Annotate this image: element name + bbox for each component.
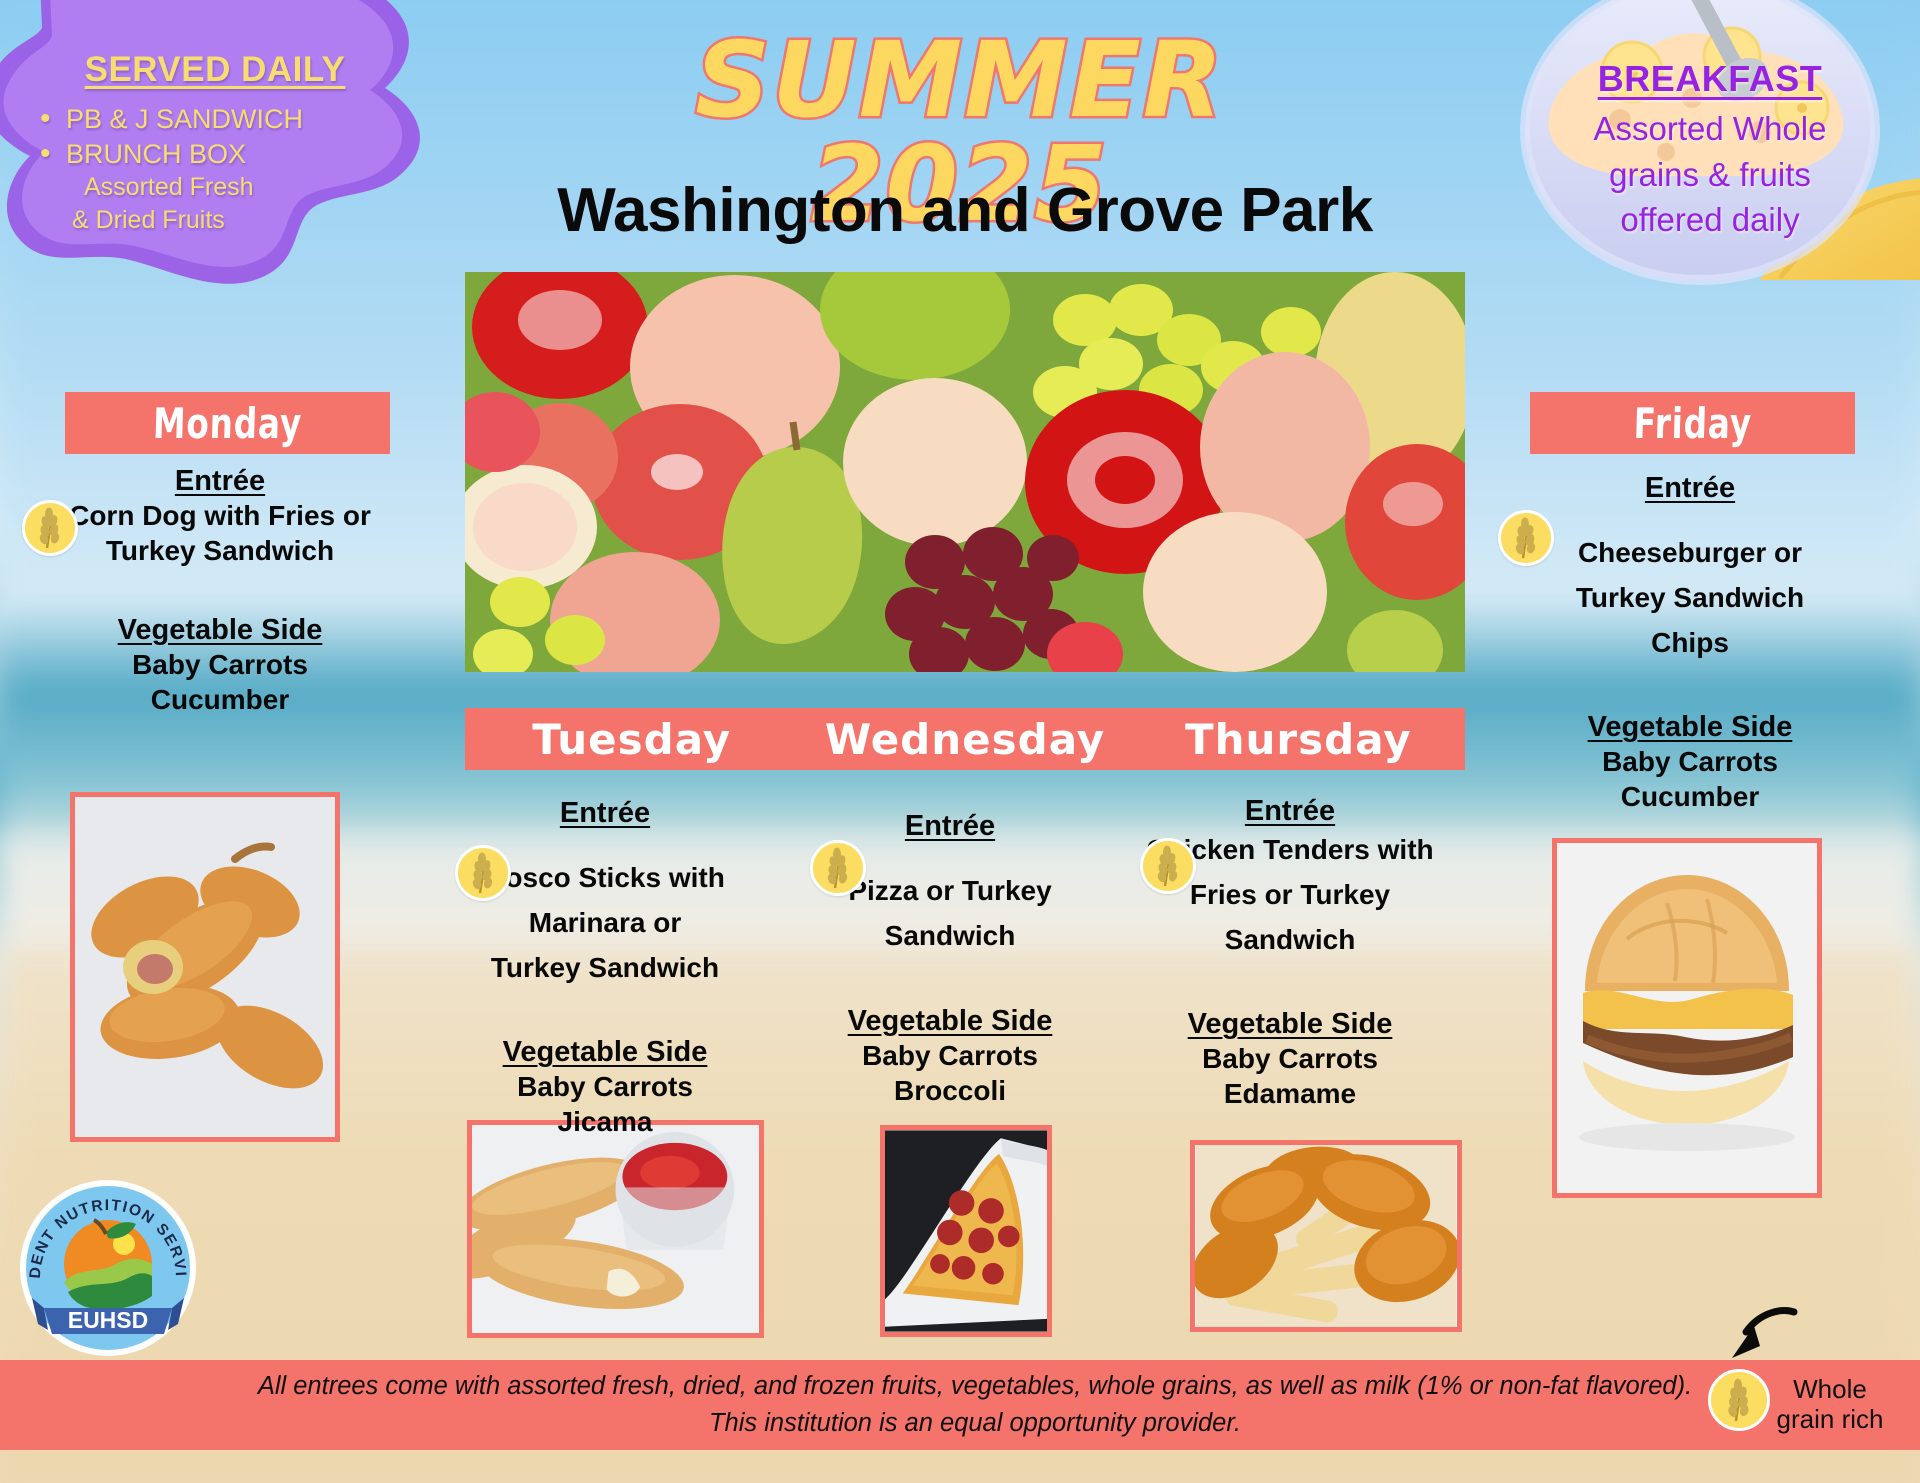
- served-daily-list: PB & J SANDWICH BRUNCH BOX: [30, 102, 400, 171]
- served-daily-sub-2: & Dried Fruits: [30, 204, 400, 237]
- day-label-friday: Friday: [1633, 399, 1753, 448]
- photo-chicken-tenders: [1190, 1140, 1462, 1332]
- day-label-monday: Monday: [152, 399, 302, 448]
- curved-arrow-icon: [1720, 1306, 1800, 1368]
- whole-grain-rich-label: Whole grain rich: [1775, 1374, 1885, 1435]
- whole-grain-rich-icon: [1708, 1369, 1770, 1431]
- side-line: Baby Carrots: [1140, 1041, 1440, 1076]
- fruit-assortment-photo: [465, 272, 1465, 672]
- side-line: Jicama: [455, 1104, 755, 1139]
- day-label-thursday: Thursday: [1185, 715, 1412, 764]
- menu-column-tuesday: Entrée Bosco Sticks with Marinara or Tur…: [455, 797, 755, 1139]
- entree-line: Sandwich: [820, 914, 1080, 959]
- list-item: PB & J SANDWICH: [30, 102, 400, 137]
- side-line: Cucumber: [1500, 779, 1880, 814]
- vegetable-side-label: Vegetable Side: [455, 1036, 755, 1069]
- entree-label: Entrée: [40, 465, 400, 498]
- day-banner-monday: Monday: [65, 392, 390, 454]
- vegetable-side-label: Vegetable Side: [1140, 1008, 1440, 1041]
- served-daily-block: SERVED DAILY PB & J SANDWICH BRUNCH BOX …: [30, 50, 400, 236]
- entree-label: Entrée: [820, 810, 1080, 843]
- day-label-wednesday: Wednesday: [825, 715, 1105, 764]
- menu-column-thursday: Entrée Chicken Tenders with Fries or Tur…: [1140, 795, 1440, 1111]
- whole-grain-line-1: Whole: [1775, 1374, 1885, 1405]
- breakfast-line-2: grains & fruits: [1520, 152, 1900, 198]
- breakfast-title: BREAKFAST: [1520, 58, 1900, 100]
- entree-line: Marinara or: [455, 901, 755, 946]
- vegetable-side-label: Vegetable Side: [1500, 711, 1880, 744]
- entree-label: Entrée: [1500, 472, 1880, 505]
- side-line: Broccoli: [820, 1073, 1080, 1108]
- entree-label: Entrée: [455, 797, 755, 830]
- logo-ribbon-text: EUHSD: [68, 1307, 149, 1333]
- photo-bosco-sticks: [467, 1120, 764, 1338]
- list-item: BRUNCH BOX: [30, 137, 400, 172]
- day-banner-midweek: Tuesday Wednesday Thursday: [465, 708, 1465, 770]
- side-line: Cucumber: [40, 682, 400, 717]
- vegetable-side-label: Vegetable Side: [40, 614, 400, 647]
- entree-label: Entrée: [1140, 795, 1440, 828]
- entree-line: Turkey Sandwich: [455, 946, 755, 991]
- photo-cheeseburger: [1552, 838, 1822, 1198]
- footer-line-2: This institution is an equal opportunity…: [40, 1405, 1910, 1442]
- vegetable-side-label: Vegetable Side: [820, 1005, 1080, 1038]
- entree-line: Turkey Sandwich: [1500, 576, 1880, 621]
- footer-line-1: All entrees come with assorted fresh, dr…: [40, 1368, 1910, 1405]
- day-banner-friday: Friday: [1530, 392, 1855, 454]
- breakfast-block: BREAKFAST Assorted Whole grains & fruits…: [1520, 58, 1900, 243]
- side-line: Edamame: [1140, 1076, 1440, 1111]
- whole-grain-icon: [1498, 510, 1554, 566]
- served-daily-sub-1: Assorted Fresh: [30, 171, 400, 204]
- side-line: Baby Carrots: [1500, 744, 1880, 779]
- whole-grain-icon: [22, 500, 78, 556]
- side-line: Baby Carrots: [455, 1069, 755, 1104]
- menu-column-monday: Entrée Corn Dog with Fries or Turkey San…: [40, 465, 400, 717]
- menu-column-friday: Entrée Cheeseburger or Turkey Sandwich C…: [1500, 472, 1880, 814]
- breakfast-line-1: Assorted Whole: [1520, 106, 1900, 152]
- entree-line: Corn Dog with Fries or: [40, 498, 400, 533]
- entree-line: Cheeseburger or: [1500, 531, 1880, 576]
- side-line: Baby Carrots: [40, 647, 400, 682]
- euhsd-logo: STUDENT NUTRITION SERVICES EUHSD: [18, 1178, 198, 1358]
- served-daily-title: SERVED DAILY: [30, 50, 400, 90]
- day-label-tuesday: Tuesday: [532, 715, 731, 764]
- entree-line: Turkey Sandwich: [40, 533, 400, 568]
- whole-grain-icon: [810, 840, 866, 896]
- whole-grain-icon: [455, 845, 511, 901]
- footer-bar: All entrees come with assorted fresh, dr…: [0, 1360, 1920, 1450]
- photo-corn-dogs: [70, 792, 340, 1142]
- photo-pizza-slice: [880, 1125, 1052, 1337]
- footer-disclaimer: All entrees come with assorted fresh, dr…: [0, 1368, 1920, 1442]
- entree-line: Chips: [1500, 621, 1880, 666]
- school-name: Washington and Grove Park: [420, 175, 1510, 246]
- entree-line: Sandwich: [1140, 918, 1440, 963]
- menu-poster: SERVED DAILY PB & J SANDWICH BRUNCH BOX …: [0, 0, 1920, 1483]
- whole-grain-icon: [1140, 838, 1196, 894]
- whole-grain-line-2: grain rich: [1775, 1404, 1885, 1435]
- side-line: Baby Carrots: [820, 1038, 1080, 1073]
- breakfast-line-3: offered daily: [1520, 197, 1900, 243]
